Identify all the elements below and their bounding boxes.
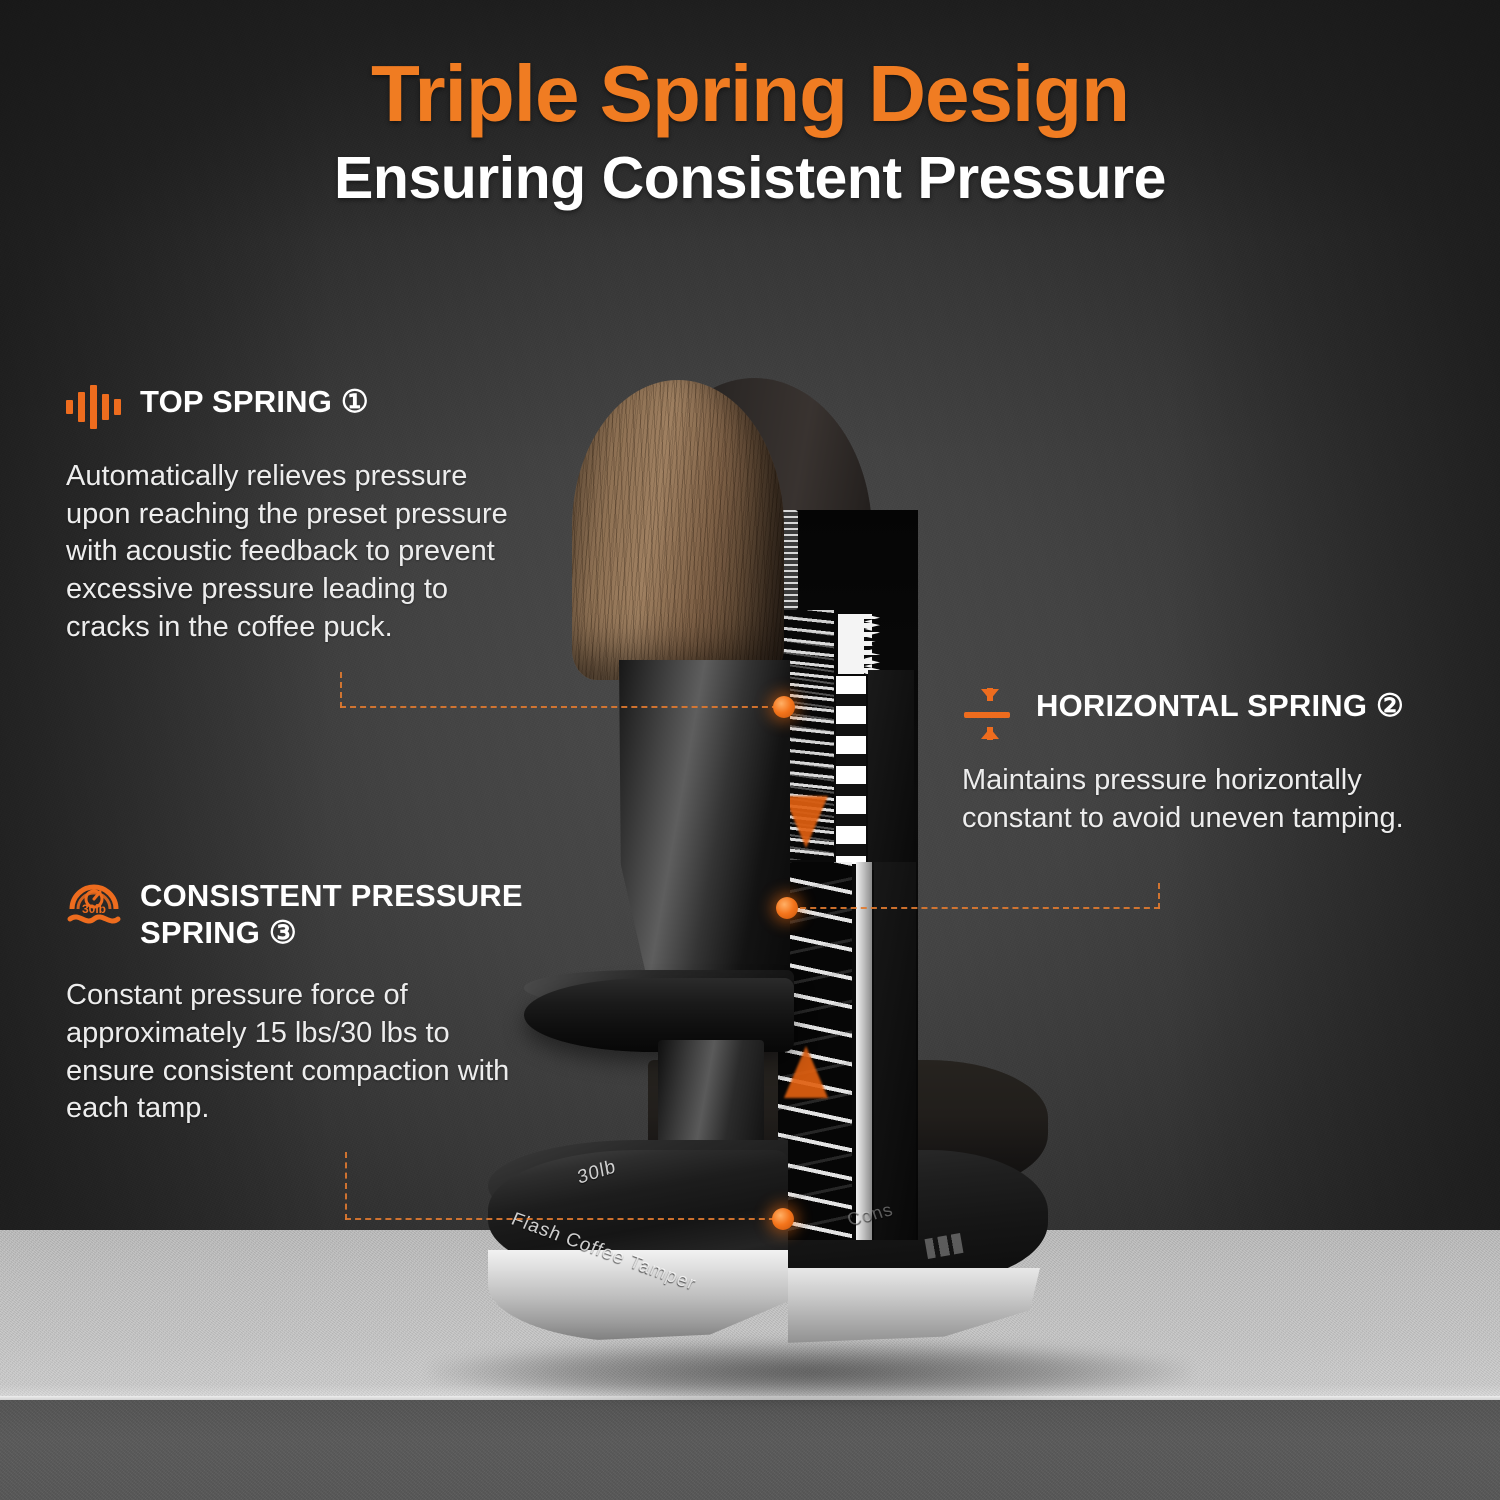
horizontal-spring-stack [836,676,866,864]
waveform-icon [66,384,124,432]
center-steel-rod [856,862,872,1240]
floor-surface [0,1400,1500,1500]
feature-title: TOP SPRING ① [140,382,369,421]
gauge-label: 30lb [82,902,106,916]
inner-housing-lower [874,862,916,1240]
leader-dot-horizontal-spring [776,897,798,919]
force-cone-up-icon [784,1046,828,1098]
tamper-internal-cutaway [778,510,918,1240]
infographic-canvas: Triple Spring Design Ensuring Consistent… [0,0,1500,1500]
leader-dot-top-spring [773,696,795,718]
tamper-wood-handle [572,380,784,680]
feature-description: Automatically relieves pressure upon rea… [66,458,526,646]
tamper-base-right-steel [788,1268,1040,1346]
adjustment-rack-teeth [864,614,880,676]
feature-block-top-spring: TOP SPRING ① Automatically relieves pres… [66,382,526,646]
page-title: Triple Spring Design [0,54,1500,134]
header-block: Triple Spring Design Ensuring Consistent… [0,54,1500,210]
feature-title: HORIZONTAL SPRING ② [1036,686,1404,725]
leader-dot-pressure-spring [772,1208,794,1230]
feature-title: CONSISTENT PRESSURE SPRING ③ [140,876,536,951]
feature-header: 30lb CONSISTENT PRESSURE SPRING ③ [66,876,536,951]
feature-header: TOP SPRING ① [66,382,526,432]
page-subtitle: Ensuring Consistent Pressure [0,148,1500,210]
vertical-compress-icon [962,688,1020,736]
product-tamper-cutaway-image: 30lb Flash Coffee Tamper Cons [460,370,1080,1380]
tamper-stem [610,660,790,990]
pressure-gauge-30lb-icon: 30lb [66,878,124,926]
feature-description: Maintains pressure horizontally constant… [962,762,1412,837]
feature-block-horizontal-spring: HORIZONTAL SPRING ② Maintains pressure h… [962,686,1412,837]
feature-description: Constant pressure force of approximately… [66,977,536,1128]
feature-header: HORIZONTAL SPRING ② [962,686,1412,736]
force-cone-down-icon [784,796,828,848]
feature-block-consistent-pressure-spring: 30lb CONSISTENT PRESSURE SPRING ③ Consta… [66,876,536,1128]
inner-housing-wall [868,670,914,870]
